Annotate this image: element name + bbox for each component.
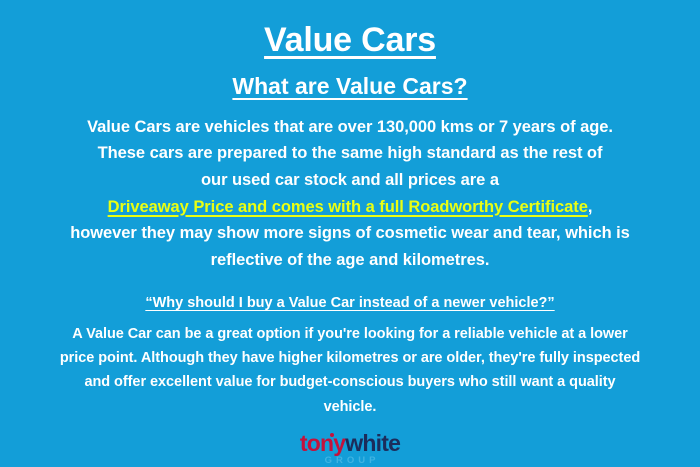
answer-line-2: price point. Although they have higher k… (20, 346, 680, 370)
intro-line-3: our used car stock and all prices are a (20, 167, 680, 194)
section-subtitle: What are Value Cars? (232, 73, 467, 99)
answer-line-1: A Value Car can be a great option if you… (20, 322, 680, 346)
logo-wordmark: tony white (300, 432, 400, 455)
value-cars-poster: Value Cars What are Value Cars? Value Ca… (0, 0, 700, 467)
intro-paragraph-block: Value Cars are vehicles that are over 13… (20, 100, 680, 274)
faq-block: “Why should I buy a Value Car instead of… (20, 274, 680, 419)
page-title: Value Cars (264, 21, 436, 59)
intro-paragraph: Value Cars are vehicles that are over 13… (20, 114, 680, 274)
tony-white-group-logo: tony white group (300, 432, 400, 466)
logo-word-white: white (345, 432, 400, 455)
faq-question: “Why should I buy a Value Car instead of… (20, 294, 680, 313)
driveaway-price-highlight: Driveaway Price and comes with a full Ro… (108, 198, 588, 216)
intro-line-2: These cars are prepared to the same high… (20, 140, 680, 167)
logo-tagline: group (321, 456, 380, 466)
intro-line-6: reflective of the age and kilometres. (20, 247, 680, 274)
answer-line-3: and offer excellent value for budget-con… (20, 370, 680, 394)
faq-answer: A Value Car can be a great option if you… (20, 322, 680, 419)
intro-line-5: however they may show more signs of cosm… (20, 220, 680, 247)
intro-line-1: Value Cars are vehicles that are over 13… (20, 114, 680, 141)
logo-word-tony: tony (300, 432, 345, 455)
intro-line-4-highlight-row: Driveaway Price and comes with a full Ro… (20, 194, 680, 221)
answer-line-4: vehicle. (20, 395, 680, 419)
highlight-trailing-comma: , (588, 198, 593, 216)
